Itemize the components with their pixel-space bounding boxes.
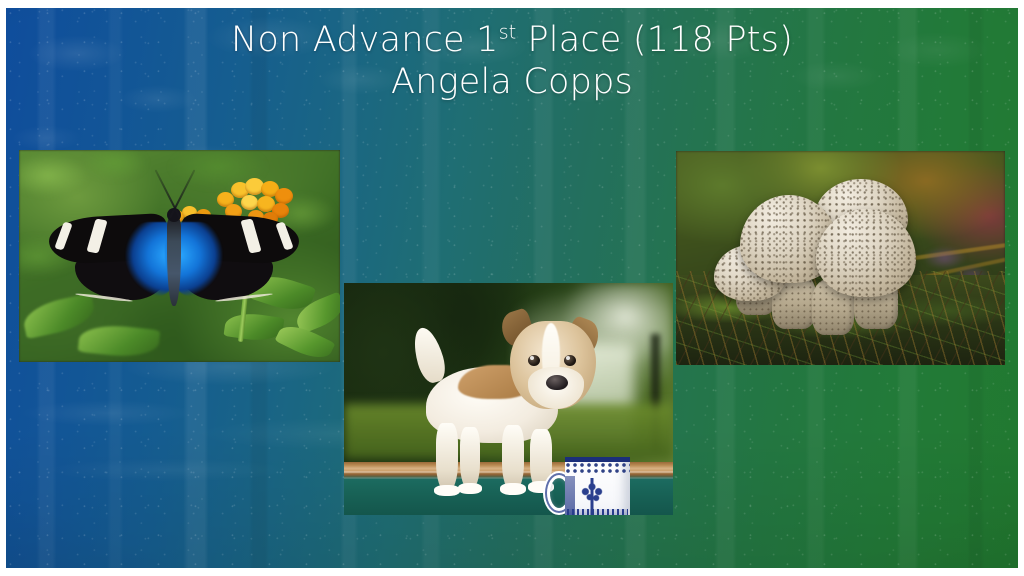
- puppy-leg: [460, 427, 480, 489]
- presentation-slide: Non Advance 1st Place (118 Pts) Angela C…: [0, 0, 1024, 576]
- puppy-paw: [500, 483, 526, 495]
- butterfly-insect: [49, 208, 299, 318]
- puppy-nose: [546, 375, 568, 390]
- willow-pattern-mug: [543, 457, 630, 515]
- mushroom-photo[interactable]: [676, 151, 1005, 365]
- puppy-scene: [344, 283, 673, 515]
- award-title-prefix: Non Advance 1: [231, 20, 499, 60]
- award-title-suffix: Place (118 Pts): [516, 20, 793, 60]
- mushroom-scene: [676, 151, 1005, 365]
- photographer-name: Angela Copps: [0, 64, 1024, 101]
- butterfly-photo[interactable]: [19, 150, 340, 362]
- award-title-line: Non Advance 1st Place (118 Pts): [0, 22, 1024, 59]
- puppy-paw: [434, 485, 460, 496]
- puppy-leg: [436, 423, 458, 491]
- mug-landscape-motif: [567, 509, 628, 515]
- butterfly-scene: [19, 150, 340, 362]
- puppy-subject: [418, 305, 608, 489]
- puppy-paw: [458, 483, 482, 494]
- butterfly-right-wing: [175, 208, 299, 294]
- puppy-eye-highlight: [530, 356, 534, 360]
- puppy-leg: [502, 425, 524, 491]
- puppy-eye-highlight: [566, 356, 570, 360]
- mug-dot-border: [565, 462, 630, 475]
- puppy-photo[interactable]: [344, 283, 673, 515]
- ordinal-suffix: st: [499, 20, 517, 43]
- butterfly-left-wing: [49, 208, 173, 294]
- slide-title-block: Non Advance 1st Place (118 Pts) Angela C…: [0, 22, 1024, 101]
